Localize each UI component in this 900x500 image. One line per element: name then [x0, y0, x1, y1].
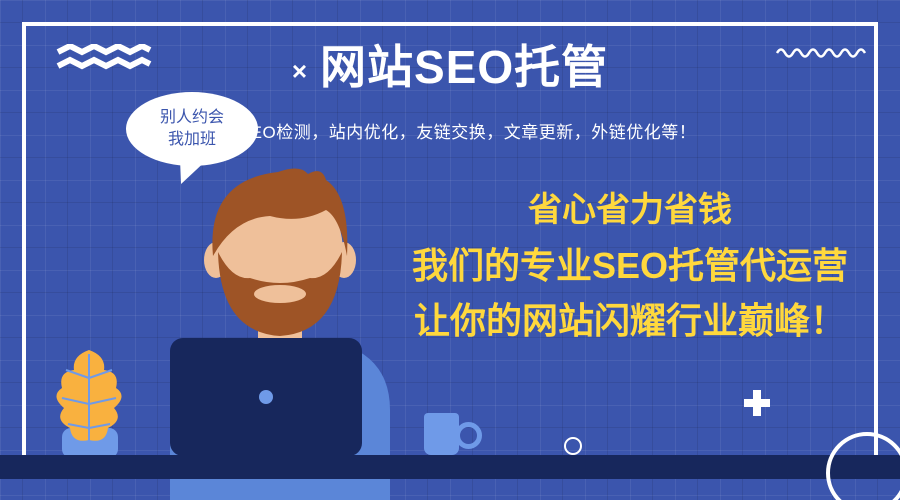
- speech-bubble-line-1: 别人约会: [160, 107, 224, 129]
- small-ring-icon: [564, 437, 582, 455]
- title-text: 网站SEO托管: [320, 41, 608, 93]
- desk-surface: [0, 455, 900, 479]
- page-title: ×网站SEO托管: [292, 44, 608, 90]
- plus-mark-icon: [744, 390, 770, 416]
- copy-line-3: 让你的网站闪耀行业巅峰！: [380, 302, 880, 341]
- potted-plant-icon: [48, 348, 130, 458]
- speech-bubble: 别人约会 我加班: [126, 92, 258, 166]
- title-bullet-icon: ×: [292, 56, 308, 86]
- seo-hosting-banner: ×网站SEO托管 含：SEO检测，站内优化，友链交换，文章更新，外链优化等！ 别…: [0, 0, 900, 500]
- marketing-copy: 省心省力省钱 我们的专业SEO托管代运营 让你的网站闪耀行业巅峰！: [380, 192, 880, 340]
- page-title-wrapper: ×网站SEO托管: [0, 44, 900, 90]
- copy-line-2: 我们的专业SEO托管代运营: [380, 247, 880, 286]
- mug-handle: [455, 422, 482, 449]
- coffee-mug: [424, 413, 459, 455]
- laptop-logo-dot-icon: [259, 390, 273, 404]
- copy-line-1: 省心省力省钱: [380, 192, 880, 229]
- corner-ring-icon: [826, 432, 900, 500]
- speech-bubble-line-2: 我加班: [168, 129, 216, 151]
